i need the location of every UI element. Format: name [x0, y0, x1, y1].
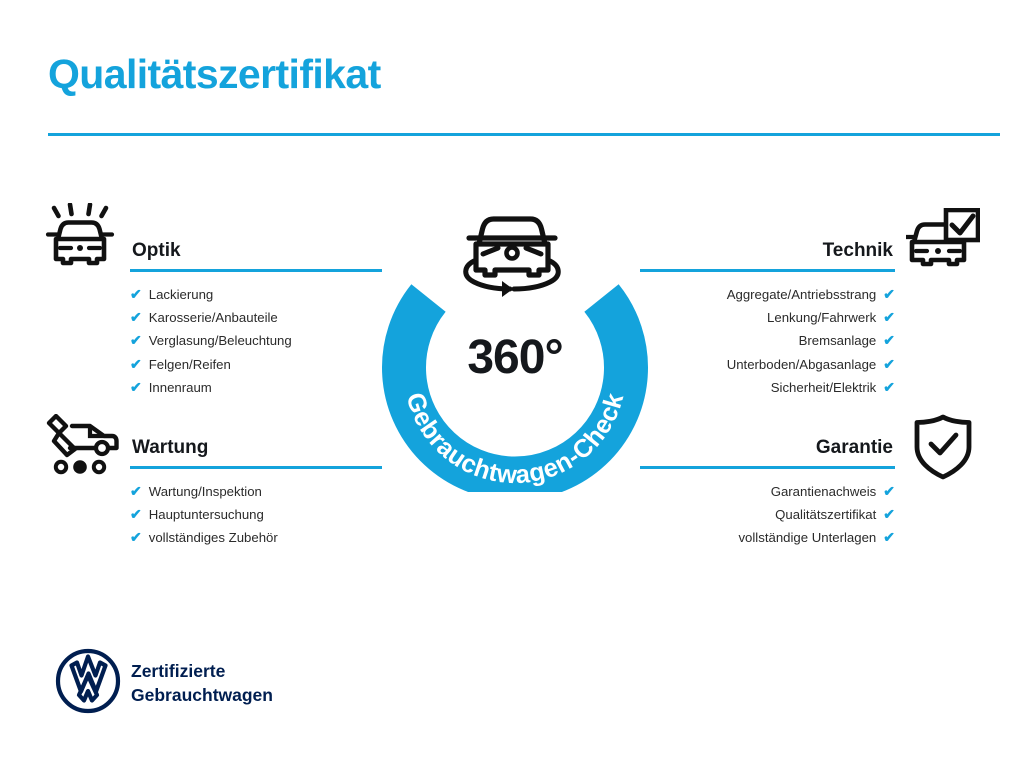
list-item-label: vollständige Unterlagen [738, 526, 876, 549]
section-garantie: Garantie Garantienachweis✔ Qualitätszert… [640, 435, 895, 550]
check-icon: ✔ [130, 503, 142, 526]
section-garantie-title: Garantie [640, 435, 895, 461]
list-item: Garantienachweis✔ [640, 480, 895, 503]
list-item: ✔Innenraum [130, 376, 382, 399]
vw-logo-icon [55, 648, 121, 719]
car-shine-icon [44, 203, 116, 276]
list-item: Aggregate/Antriebsstrang✔ [640, 283, 895, 306]
shield-check-icon [912, 414, 974, 485]
list-item-label: Lackierung [149, 283, 214, 306]
list-item-label: Hauptuntersuchung [149, 503, 264, 526]
list-item-label: Karosserie/Anbauteile [149, 306, 278, 329]
check-icon: ✔ [883, 526, 895, 549]
section-garantie-divider [640, 466, 895, 469]
list-item-label: Lenkung/Fahrwerk [767, 306, 876, 329]
check-icon: ✔ [130, 526, 142, 549]
list-item-label: Unterboden/Abgasanlage [727, 353, 877, 376]
list-item-label: Innenraum [149, 376, 212, 399]
list-item-label: vollständiges Zubehör [149, 526, 278, 549]
list-item: ✔Verglasung/Beleuchtung [130, 329, 382, 352]
footer-line-1: Zertifizierte [131, 659, 273, 683]
list-item: ✔Wartung/Inspektion [130, 480, 382, 503]
check-icon: ✔ [130, 329, 142, 352]
check-icon: ✔ [883, 503, 895, 526]
page-title: Qualitätszertifikat [48, 52, 381, 97]
list-item: ✔Karosserie/Anbauteile [130, 306, 382, 329]
check-icon: ✔ [130, 306, 142, 329]
list-item: ✔Felgen/Reifen [130, 353, 382, 376]
check-icon: ✔ [883, 480, 895, 503]
section-optik-title: Optik [130, 238, 382, 264]
check-icon: ✔ [883, 353, 895, 376]
list-item: Bremsanlage✔ [640, 329, 895, 352]
list-item: ✔vollständiges Zubehör [130, 526, 382, 549]
list-item: vollständige Unterlagen✔ [640, 526, 895, 549]
section-optik-divider [130, 269, 382, 272]
car-service-pencil-icon [42, 414, 120, 481]
list-item-label: Bremsanlage [799, 329, 877, 352]
section-technik-list: Aggregate/Antriebsstrang✔ Lenkung/Fahrwe… [640, 283, 895, 399]
section-optik-header: Optik [130, 238, 382, 272]
check-icon: ✔ [130, 283, 142, 306]
check-icon: ✔ [883, 376, 895, 399]
list-item: Sicherheit/Elektrik✔ [640, 376, 895, 399]
list-item-label: Garantienachweis [771, 480, 877, 503]
footer-brand-text: Zertifizierte Gebrauchtwagen [131, 659, 273, 707]
check-icon: ✔ [130, 376, 142, 399]
check-icon: ✔ [883, 306, 895, 329]
list-item-label: Verglasung/Beleuchtung [149, 329, 292, 352]
section-wartung: Wartung ✔Wartung/Inspektion ✔Hauptunters… [130, 435, 382, 550]
section-wartung-list: ✔Wartung/Inspektion ✔Hauptuntersuchung ✔… [130, 480, 382, 550]
list-item-label: Felgen/Reifen [149, 353, 231, 376]
title-divider [48, 133, 1000, 136]
section-wartung-title: Wartung [130, 435, 382, 461]
list-item: ✔Lackierung [130, 283, 382, 306]
car-checkbox-icon [906, 208, 980, 275]
check-icon: ✔ [883, 283, 895, 306]
section-wartung-header: Wartung [130, 435, 382, 469]
list-item: ✔Hauptuntersuchung [130, 503, 382, 526]
list-item-label: Wartung/Inspektion [149, 480, 262, 503]
section-garantie-list: Garantienachweis✔ Qualitätszertifikat✔ v… [640, 480, 895, 550]
badge-center-label: 360° [381, 330, 649, 385]
list-item: Qualitätszertifikat✔ [640, 503, 895, 526]
list-item-label: Sicherheit/Elektrik [771, 376, 877, 399]
list-item-label: Qualitätszertifikat [775, 503, 876, 526]
list-item-label: Aggregate/Antriebsstrang [727, 283, 877, 306]
list-item: Unterboden/Abgasanlage✔ [640, 353, 895, 376]
footer-line-2: Gebrauchtwagen [131, 683, 273, 707]
section-optik-list: ✔Lackierung ✔Karosserie/Anbauteile ✔Verg… [130, 283, 382, 399]
section-garantie-header: Garantie [640, 435, 895, 469]
check-icon: ✔ [130, 480, 142, 503]
section-technik-title: Technik [640, 238, 895, 264]
certificate-page: Qualitätszertifikat [0, 0, 1024, 768]
check-icon: ✔ [883, 329, 895, 352]
section-optik: Optik ✔Lackierung ✔Karosserie/Anbauteile… [130, 238, 382, 399]
section-technik-divider [640, 269, 895, 272]
section-wartung-divider [130, 466, 382, 469]
check-icon: ✔ [130, 353, 142, 376]
badge-curved-label: Gebrauchtwagen-Check [400, 389, 629, 489]
section-technik-header: Technik [640, 238, 895, 272]
section-technik: Technik Aggregate/Antriebsstrang✔ Lenkun… [640, 238, 895, 399]
car-rotation-icon [452, 198, 572, 303]
list-item: Lenkung/Fahrwerk✔ [640, 306, 895, 329]
svg-text:Gebrauchtwagen-Check: Gebrauchtwagen-Check [400, 389, 629, 489]
